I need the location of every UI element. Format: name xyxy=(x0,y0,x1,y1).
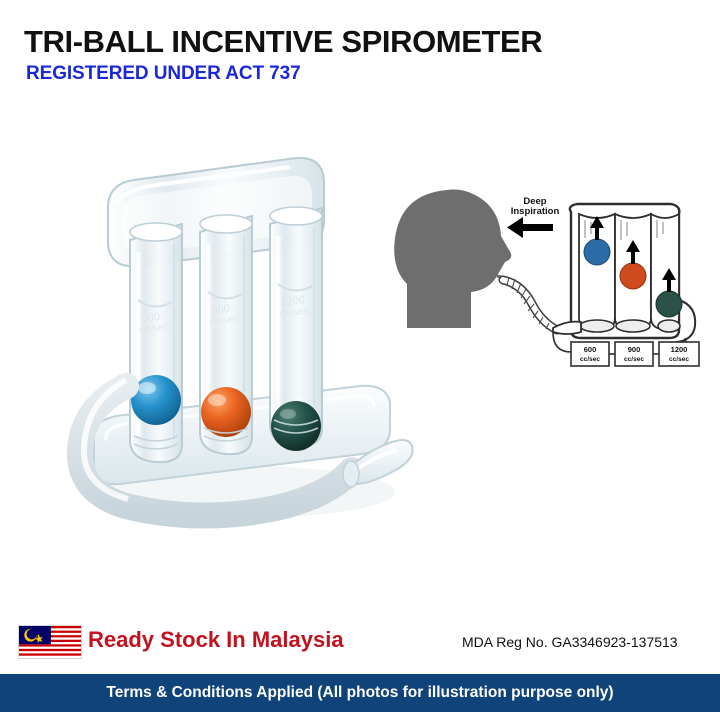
footer-info-row: Ready Stock In Malaysia MDA Reg No. GA33… xyxy=(0,618,720,672)
left-arrow-icon xyxy=(507,217,553,238)
diagram-green-ball xyxy=(656,291,682,317)
flow-600-unit: cc/sec xyxy=(580,356,600,363)
flow-600-value: 600 xyxy=(584,345,597,354)
spirometer-illustration: 600 CC/SEC 900 CC/SEC xyxy=(60,140,420,540)
ready-stock-label: Ready Stock In Malaysia xyxy=(88,627,344,653)
page-title: TRI-BALL INCENTIVE SPIROMETER xyxy=(24,24,542,60)
diagram-blue-ball xyxy=(584,239,610,265)
terms-bar: Terms & Conditions Applied (All photos f… xyxy=(0,674,720,712)
usage-diagram: Deep Inspiration xyxy=(385,180,705,380)
flow-label-600: 600 cc/sec xyxy=(571,342,609,366)
head-silhouette xyxy=(394,190,513,329)
diagram-device xyxy=(553,204,695,342)
diagram-hose xyxy=(503,277,557,330)
chamber-600: 600 CC/SEC xyxy=(130,223,182,462)
flow-1200-value: 1200 xyxy=(671,345,688,354)
mda-registration-label: MDA Reg No. GA3346923-137513 xyxy=(462,634,678,650)
terms-label: Terms & Conditions Applied (All photos f… xyxy=(0,674,720,712)
flow-900-unit: cc/sec xyxy=(624,356,644,363)
flow-label-1200: 1200 cc/sec xyxy=(659,342,699,366)
deep-inspiration-annotation: Deep Inspiration xyxy=(507,196,559,238)
flow-label-900: 900 cc/sec xyxy=(615,342,653,366)
flow-1200-unit: cc/sec xyxy=(669,356,689,363)
malaysia-flag-icon xyxy=(18,625,82,659)
deep-inspiration-diagram: Deep Inspiration xyxy=(385,180,705,380)
deep-inspiration-line2: Inspiration xyxy=(511,206,560,217)
green-ball xyxy=(271,401,321,451)
diagram-orange-ball xyxy=(620,263,646,289)
page-subtitle: REGISTERED UNDER ACT 737 xyxy=(26,63,301,85)
product-advertisement-page: TRI-BALL INCENTIVE SPIROMETER REGISTERED… xyxy=(0,0,720,720)
product-image: 600 CC/SEC 900 CC/SEC xyxy=(60,140,420,540)
header: TRI-BALL INCENTIVE SPIROMETER REGISTERED… xyxy=(0,0,720,100)
flow-900-value: 900 xyxy=(628,345,641,354)
